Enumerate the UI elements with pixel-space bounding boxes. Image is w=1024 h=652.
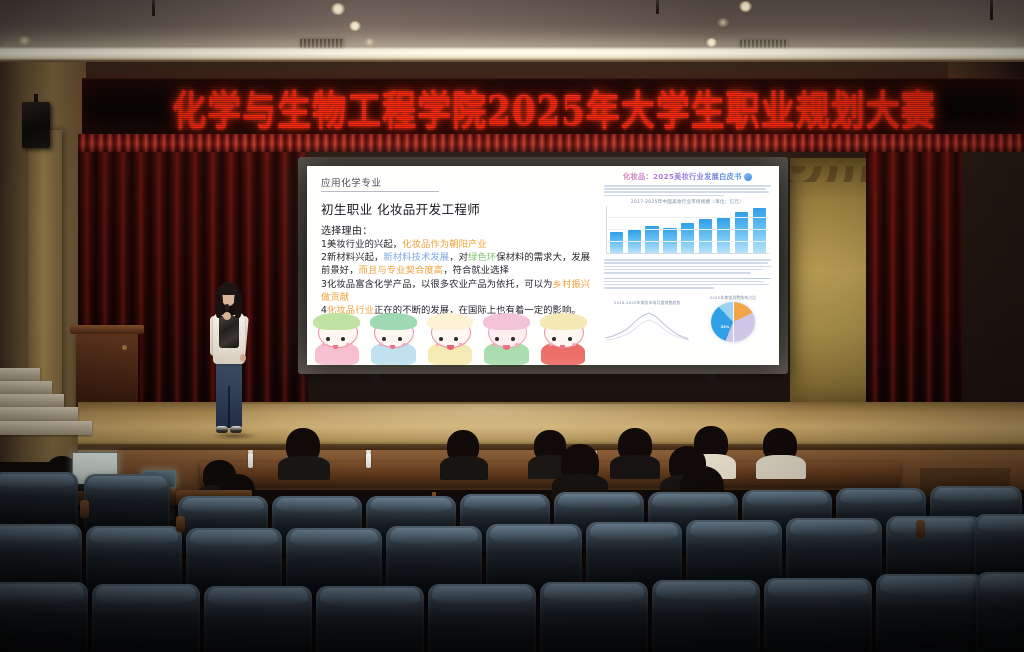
presenter-leg-split [228, 386, 230, 428]
seat-b2 [86, 526, 182, 592]
slide-body-text: 1美妆行业的兴起，化妆品作为朝阳产业 2新材料兴起，新材料技术发展，对绿色环保材… [321, 238, 594, 317]
seat-b11 [974, 514, 1024, 580]
bar-2022 [699, 219, 712, 253]
stage-curtain-right [866, 152, 962, 402]
podium-knob [122, 345, 127, 350]
seat-a2 [84, 474, 170, 532]
line-chart-svg [604, 308, 691, 342]
cartoon-baby-1 [309, 315, 365, 365]
bar-2018 [628, 230, 641, 254]
audience-person-1 [278, 428, 330, 478]
seat-b3 [186, 528, 282, 594]
line-chart-caption: 2018-2025年美妆市场月度销售趋势 [604, 300, 691, 306]
slide-left-column: 应用化学专业 初生职业 化妆品开发工程师 选择理由： 1美妆行业的兴起，化妆品作… [307, 166, 600, 365]
slide-subheading: 选择理由： [321, 222, 594, 237]
bar-2024 [735, 212, 748, 253]
seat-b9 [786, 518, 882, 584]
presenter-shoe-left [216, 426, 228, 433]
presenter-vest [219, 316, 239, 348]
ceiling-hanger-1 [152, 0, 155, 16]
screen-mount-left [370, 374, 380, 381]
pie-chart: 32% [711, 302, 755, 342]
seat-c9 [876, 574, 984, 652]
seat-a1 [0, 472, 78, 530]
slide-tag-underline [321, 191, 439, 192]
projection-screen-frame: 应用化学专业 初生职业 化妆品开发工程师 选择理由： 1美妆行业的兴起，化妆品作… [298, 157, 788, 374]
presenter-shadow [210, 432, 258, 440]
ceiling-hanger-3 [990, 0, 993, 20]
seat-c7 [652, 580, 760, 652]
banner-title: 化学与生物工程学院2025年大学生职业规划大赛 [172, 78, 936, 136]
seat-c4 [316, 586, 424, 652]
audience-person-4 [610, 428, 660, 478]
seat-c6 [540, 582, 648, 652]
projection-screen: 应用化学专业 初生职业 化妆品开发工程师 选择理由： 1美妆行业的兴起，化妆品作… [307, 166, 779, 365]
audience-person-6 [756, 428, 806, 478]
slide-reason-3: 3化妆品富含化学产品，以很多农业产品为依托，可以为乡村振兴做贡献 [321, 278, 594, 304]
seat-b6 [486, 524, 582, 590]
slide-report-panel: 化妆品：2025美妆行业发展白皮书 2017-2025年中国美妆行业市场规模（单… [600, 166, 779, 365]
slide-reason-1: 1美妆行业的兴起，化妆品作为朝阳产业 [321, 238, 594, 251]
report-title: 化妆品：2025美妆行业发展白皮书 [604, 172, 771, 182]
downlight-icon-2 [349, 21, 361, 31]
audience-person-2 [440, 430, 488, 478]
pie-label-1: 32% [721, 325, 730, 329]
seat-c3 [204, 586, 312, 652]
cartoon-figure-row [309, 313, 602, 365]
water-bottle-cap-1 [248, 450, 253, 453]
screen-mount-right [706, 374, 716, 381]
cartoon-baby-5 [535, 315, 591, 365]
water-bottle-cap-2 [366, 450, 371, 453]
bar-chart [606, 206, 769, 254]
slide-heading: 初生职业 化妆品开发工程师 [321, 199, 594, 218]
seat-b10 [886, 516, 982, 582]
presenter-hand-left [223, 312, 231, 320]
report-paragraph-1 [604, 185, 771, 196]
downlight-icon-3 [739, 1, 752, 12]
bar-2025 [753, 208, 766, 254]
presenter-hair-left [215, 291, 223, 318]
seat-b8 [686, 520, 782, 586]
podium-top [70, 325, 144, 334]
slide-reason-2: 2新材料兴起，新材料技术发展，对绿色环保材料的需求大，发展前景好，而且与专业契合… [321, 251, 594, 277]
report-paragraph-2 [604, 259, 771, 273]
bar-chart-caption: 2017-2025年中国美妆行业市场规模（单位：亿元） [604, 199, 771, 205]
seat-c10 [976, 572, 1024, 652]
downlight-icon-5 [18, 36, 31, 45]
presenter-hair-right [234, 291, 242, 318]
water-bottle-1 [248, 453, 253, 468]
led-banner: 化学与生物工程学院2025年大学生职业规划大赛 [82, 78, 1024, 136]
line-chart [604, 308, 691, 342]
seat-c8 [764, 578, 872, 652]
student-presenter [206, 282, 252, 446]
seat-b1 [0, 524, 82, 590]
cartoon-baby-2 [366, 315, 422, 365]
seat-c2 [92, 584, 200, 652]
water-bottle-2 [366, 453, 371, 468]
bar-2021 [681, 223, 694, 253]
bar-2017 [610, 232, 623, 253]
seat-c1 [0, 582, 88, 652]
presentation-slide: 应用化学专业 初生职业 化妆品开发工程师 选择理由： 1美妆行业的兴起，化妆品作… [307, 166, 779, 365]
cartoon-baby-4 [479, 315, 535, 365]
report-paragraph-3 [604, 278, 771, 289]
report-badge-icon [744, 173, 752, 181]
wall-speaker [22, 102, 50, 148]
seat-armrest-1 [80, 500, 89, 518]
presenter-hand-right [240, 354, 246, 362]
slide-major-tag: 应用化学专业 [321, 175, 594, 189]
downlight-icon-1 [331, 3, 345, 15]
bar-2023 [717, 217, 730, 254]
seat-c5 [428, 584, 536, 652]
seat-armrest-3 [916, 520, 925, 538]
downlight-icon-6 [364, 38, 375, 46]
cartoon-baby-3 [422, 315, 478, 365]
seat-b4 [286, 528, 382, 594]
auditorium-photo: 化学与生物工程学院2025年大学生职业规划大赛 应用化学专业 初生职业 化妆品开… [0, 0, 1024, 652]
seat-b5 [386, 526, 482, 592]
presenter-shoe-right [230, 426, 242, 433]
pie-chart-caption: 2025年美妆消费结构占比 [695, 295, 771, 301]
seat-armrest-2 [176, 516, 185, 532]
ceiling-hanger-2 [656, 0, 659, 14]
seat-b7 [586, 522, 682, 588]
downlight-icon-7 [717, 18, 729, 27]
